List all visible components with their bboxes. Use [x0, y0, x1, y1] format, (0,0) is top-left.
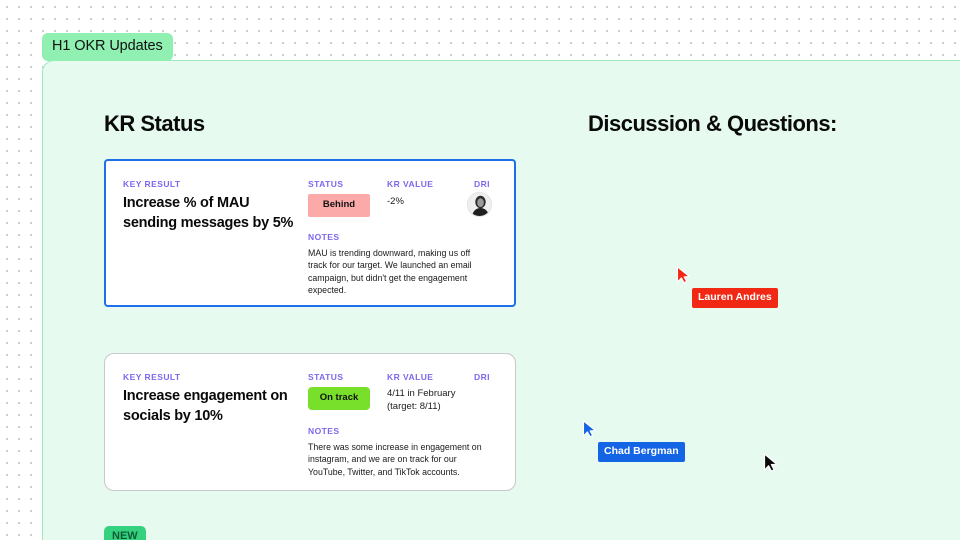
mouse-cursor-icon	[763, 453, 779, 473]
kr-value: 4/11 in February (target: 8/11)	[387, 388, 455, 414]
kr-card[interactable]: KEY RESULT Increase % of MAU sending mes…	[104, 159, 516, 307]
column-label-status: STATUS	[308, 372, 343, 382]
cursor-pointer-icon	[676, 266, 692, 284]
kr-card[interactable]: KEY RESULT Increase engagement on social…	[104, 353, 516, 491]
column-label-kr-value: KR VALUE	[387, 372, 433, 382]
kr-notes: MAU is trending downward, making us off …	[308, 247, 488, 297]
column-label-key-result: KEY RESULT	[123, 372, 181, 382]
kr-value: -2%	[387, 196, 404, 209]
kr-notes: There was some increase in engagement on…	[308, 441, 488, 478]
column-label-notes: NOTES	[308, 426, 340, 436]
column-label-status: STATUS	[308, 179, 343, 189]
column-label-kr-value: KR VALUE	[387, 179, 433, 189]
collaborator-name-tag: Lauren Andres	[692, 288, 778, 308]
column-label-dri: DRI	[474, 179, 490, 189]
collaborator-name-tag: Chad Bergman	[598, 442, 685, 462]
cursor-pointer-icon	[582, 420, 598, 438]
canvas[interactable]: H1 OKR Updates KR Status Discussion & Qu…	[0, 0, 960, 540]
column-label-notes: NOTES	[308, 232, 340, 242]
kr-title: Increase engagement on socials by 10%	[123, 387, 303, 426]
bottom-clipped-tag[interactable]: NEW	[104, 526, 146, 540]
status-badge[interactable]: Behind	[308, 194, 370, 217]
column-label-dri: DRI	[474, 372, 490, 382]
discussion-heading: Discussion & Questions:	[588, 111, 837, 137]
kr-title: Increase % of MAU sending messages by 5%	[123, 194, 303, 233]
kr-status-heading: KR Status	[104, 111, 205, 137]
column-label-key-result: KEY RESULT	[123, 179, 181, 189]
frame-title-tag[interactable]: H1 OKR Updates	[42, 33, 173, 61]
avatar[interactable]	[467, 192, 492, 217]
status-badge[interactable]: On track	[308, 387, 370, 410]
